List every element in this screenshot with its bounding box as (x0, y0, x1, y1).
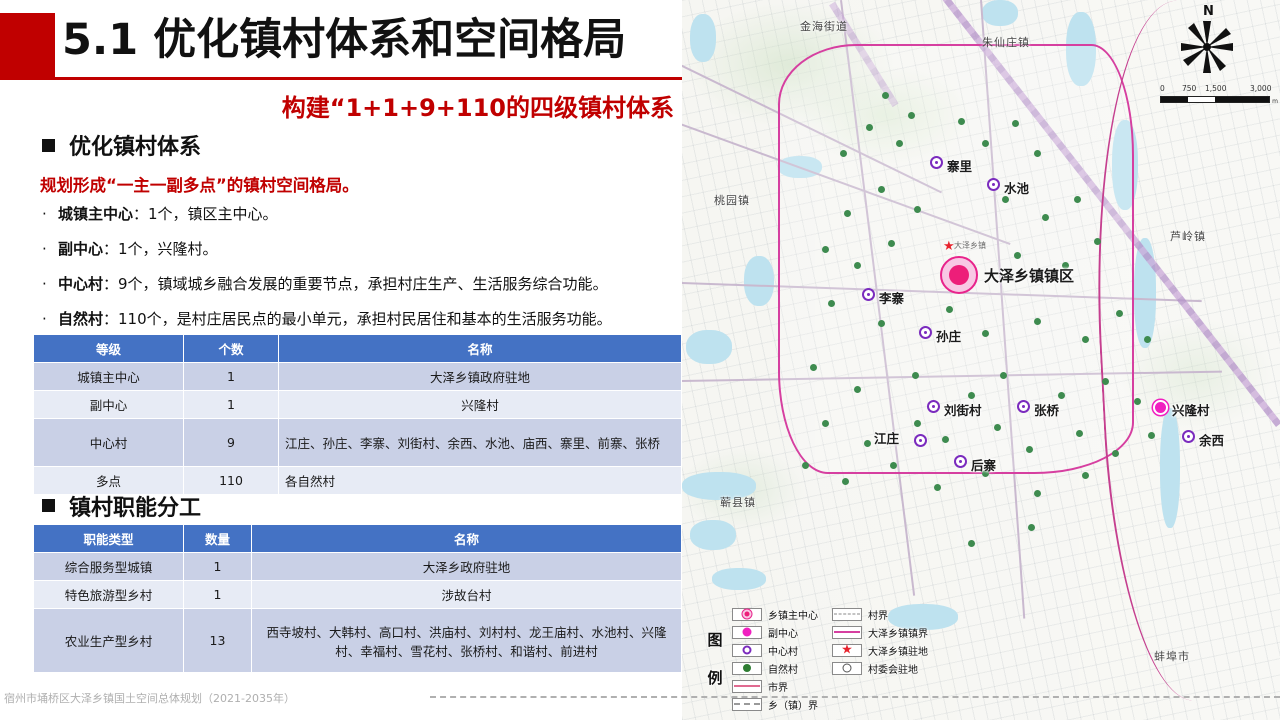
cell-quantity: 1 (184, 553, 252, 581)
bullet-dot-icon: · (42, 310, 58, 328)
natural-village-dot (968, 392, 975, 399)
center-village-marker[interactable] (927, 400, 940, 413)
legend-item: 自然村 (732, 661, 818, 676)
natural-village-dot (1076, 430, 1083, 437)
natural-village-dot (1094, 238, 1101, 245)
cell-function-type: 特色旅游型乡村 (34, 581, 184, 609)
cell-grade: 城镇主中心 (34, 363, 184, 391)
bullet-desc: ：1个，兴隆村。 (103, 240, 218, 258)
section1-lead-text: 规划形成“一主一副多点”的镇村空间格局。 (40, 172, 359, 196)
bullet-dot-icon: · (42, 205, 58, 223)
natural-village-dot (842, 478, 849, 485)
legend-title-char-1: 图 (707, 631, 722, 649)
water-body (982, 0, 1018, 26)
sub-center-dot-icon (732, 626, 762, 639)
column-header-quantity: 数量 (184, 525, 252, 553)
section-heading-village-system: 优化镇村体系 (42, 129, 201, 161)
center-village-dot-icon (732, 644, 762, 657)
legend-item: 副中心 (732, 625, 818, 640)
main-center-dot-icon (732, 608, 762, 621)
bullet-term: 中心村 (58, 275, 103, 293)
cell-count: 1 (184, 363, 279, 391)
natural-village-dot (942, 436, 949, 443)
daze-town-boundary-line-icon (832, 626, 862, 639)
center-village-label: 李寨 (879, 288, 904, 307)
natural-village-dot (914, 420, 921, 427)
legend-label: 大泽乡镇镇界 (868, 625, 928, 640)
cell-quantity: 13 (184, 609, 252, 673)
natural-village-dot (914, 206, 921, 213)
natural-village-dot (1112, 450, 1119, 457)
center-village-label: 江庄 (874, 428, 899, 447)
bullet-desc: ：110个，是村庄居民点的最小单元，承担村民居住和基本的生活服务功能。 (103, 310, 612, 328)
legend-label: 大泽乡镇驻地 (868, 643, 928, 658)
page-subtitle: 构建“1+1+9+110的四级镇村体系 (0, 88, 682, 123)
scale-tick: 1,500 (1205, 84, 1226, 93)
center-village-label: 后寨 (971, 455, 996, 474)
natural-village-dot (1116, 310, 1123, 317)
legend-item: 中心村 (732, 643, 818, 658)
town-label: 金海街道 (800, 18, 848, 34)
column-header-grade: 等级 (34, 335, 184, 363)
natural-village-dot (934, 484, 941, 491)
list-item: ·城镇主中心：1个，镇区主中心。 (42, 203, 682, 224)
legend-item: 乡（镇）界 (732, 697, 818, 712)
table-row: 城镇主中心 1 大泽乡镇政府驻地 (34, 363, 682, 391)
natural-village-dot-icon (732, 662, 762, 675)
natural-village-dot (1002, 196, 1009, 203)
bullet-square-icon (42, 499, 55, 512)
scale-bar-graphic (1160, 96, 1270, 103)
bullet-desc: ：9个，镇域城乡融合发展的重要节点，承担村庄生产、生活服务综合功能。 (103, 275, 608, 293)
natural-village-dot (844, 210, 851, 217)
bullet-term: 自然村 (58, 310, 103, 328)
natural-village-dot (912, 372, 919, 379)
cell-quantity: 1 (184, 581, 252, 609)
center-village-marker[interactable] (1017, 400, 1030, 413)
center-village-label: 余西 (1199, 430, 1224, 449)
table-row: 综合服务型城镇 1 大泽乡政府驻地 (34, 553, 682, 581)
section2-heading-label: 镇村职能分工 (69, 496, 201, 521)
legend-label: 村委会驻地 (868, 661, 918, 676)
list-item: ·副中心：1个，兴隆村。 (42, 238, 682, 259)
water-body (712, 568, 766, 590)
natural-village-dot (866, 124, 873, 131)
natural-village-dot (968, 540, 975, 547)
natural-village-dot (958, 118, 965, 125)
natural-village-dot (946, 306, 953, 313)
legend-item: 村界 (832, 607, 928, 622)
center-village-label: 寨里 (947, 156, 972, 175)
cell-name: 西寺坡村、大韩村、高口村、洪庙村、刘村村、龙王庙村、水池村、兴隆村、幸福村、雪花… (252, 609, 682, 673)
legend-label: 乡（镇）界 (768, 697, 818, 712)
legend-title-char-2: 例 (707, 669, 722, 687)
table-row: 特色旅游型乡村 1 涉故台村 (34, 581, 682, 609)
town-label: 朱仙庄镇 (982, 34, 1030, 50)
planning-map[interactable]: 大泽乡镇镇区 ★ 大泽乡镇 兴隆村 寨里 水池 李寨 孙庄 刘街村 张桥 余西 … (682, 0, 1280, 720)
main-center-label: 大泽乡镇镇区 (984, 265, 1074, 286)
column-header-name: 名称 (252, 525, 682, 553)
function-division-table: 职能类型 数量 名称 综合服务型城镇 1 大泽乡政府驻地 特色旅游型乡村 1 涉… (33, 524, 682, 673)
natural-village-dot (1074, 196, 1081, 203)
natural-village-dot (1058, 392, 1065, 399)
cell-name: 涉故台村 (252, 581, 682, 609)
table-row: 中心村 9 江庄、孙庄、李寨、刘街村、余西、水池、庙西、寨里、前寨、张桥 (34, 419, 682, 467)
natural-village-dot (1042, 214, 1049, 221)
bullet-term: 副中心 (58, 240, 103, 258)
cell-name: 江庄、孙庄、李寨、刘街村、余西、水池、庙西、寨里、前寨、张桥 (279, 419, 682, 467)
cell-name: 各自然村 (279, 467, 682, 495)
natural-village-dot (1144, 336, 1151, 343)
natural-village-dot (896, 140, 903, 147)
bullet-square-icon (42, 139, 55, 152)
legend-item: ★ 大泽乡镇驻地 (832, 643, 928, 658)
center-village-label: 孙庄 (936, 326, 961, 345)
table-row: 农业生产型乡村 13 西寺坡村、大韩村、高口村、洪庙村、刘村村、龙王庙村、水池村… (34, 609, 682, 673)
legend-label: 村界 (868, 607, 888, 622)
cell-grade: 副中心 (34, 391, 184, 419)
center-village-marker[interactable] (987, 178, 1000, 191)
natural-village-dot (890, 462, 897, 469)
main-center-marker[interactable] (940, 256, 978, 294)
town-label: 桃园镇 (714, 192, 750, 208)
water-body (690, 520, 736, 550)
legend-label: 市界 (768, 679, 788, 694)
center-village-marker[interactable] (862, 288, 875, 301)
bullet-term: 城镇主中心 (58, 205, 133, 223)
legend-item: 村委会驻地 (832, 661, 928, 676)
legend-label: 自然村 (768, 661, 798, 676)
natural-village-dot (810, 364, 817, 371)
city-boundary-line-icon (732, 680, 762, 693)
natural-village-dot (1034, 150, 1041, 157)
natural-village-dot (908, 112, 915, 119)
legend-label: 中心村 (768, 643, 798, 658)
natural-village-dot (1102, 378, 1109, 385)
legend-title: 图 例 (698, 621, 732, 697)
legend-label: 乡镇主中心 (768, 607, 818, 622)
scale-bar: 0 750 1,500 3,000 m (1160, 84, 1270, 103)
town-label: 蚌埠市 (1154, 648, 1190, 664)
cell-function-type: 综合服务型城镇 (34, 553, 184, 581)
footer-divider (430, 696, 1280, 698)
natural-village-dot (1026, 446, 1033, 453)
natural-village-dot (840, 150, 847, 157)
scale-bar-ticks: 0 750 1,500 3,000 (1160, 84, 1270, 96)
cell-name: 大泽乡政府驻地 (252, 553, 682, 581)
natural-village-dot (1082, 472, 1089, 479)
natural-village-dot (802, 462, 809, 469)
township-boundary-line-icon (732, 698, 762, 711)
natural-village-dot (822, 246, 829, 253)
center-village-marker[interactable] (954, 455, 967, 468)
cell-function-type: 农业生产型乡村 (34, 609, 184, 673)
natural-village-dot (888, 240, 895, 247)
natural-village-dot (994, 424, 1001, 431)
natural-village-dot (1134, 398, 1141, 405)
legend-item: 乡镇主中心 (732, 607, 818, 622)
content-panel: 5.1 优化镇村体系和空间格局 构建“1+1+9+110的四级镇村体系 优化镇村… (0, 0, 682, 720)
scale-tick: 750 (1182, 84, 1196, 93)
natural-village-dot (1014, 252, 1021, 259)
page-title: 5.1 优化镇村体系和空间格局 (62, 9, 626, 71)
natural-village-dot (828, 300, 835, 307)
list-item: ·自然村：110个，是村庄居民点的最小单元，承担村民居住和基本的生活服务功能。 (42, 308, 682, 329)
natural-village-dot (882, 92, 889, 99)
town-label: 蕲县镇 (720, 494, 756, 510)
column-header-name: 名称 (279, 335, 682, 363)
water-body (686, 330, 732, 364)
center-village-label: 张桥 (1034, 400, 1059, 419)
star-icon: ★ (943, 240, 955, 253)
scale-unit-label: m (1272, 98, 1278, 105)
scale-tick: 0 (1160, 84, 1165, 93)
sub-center-label: 兴隆村 (1172, 400, 1210, 419)
center-village-label: 水池 (1004, 178, 1029, 197)
bullet-desc: ：1个，镇区主中心。 (133, 205, 278, 223)
center-village-marker[interactable] (930, 156, 943, 169)
circle-icon (832, 662, 862, 675)
natural-village-dot (1082, 336, 1089, 343)
center-village-label: 刘街村 (944, 400, 982, 419)
column-header-count: 个数 (184, 335, 279, 363)
column-header-function-type: 职能类型 (34, 525, 184, 553)
village-system-table: 等级 个数 名称 城镇主中心 1 大泽乡镇政府驻地 副中心 1 兴隆村 中心村 … (33, 334, 682, 495)
table-header-row: 职能类型 数量 名称 (34, 525, 682, 553)
natural-village-dot (854, 262, 861, 269)
table-row: 副中心 1 兴隆村 (34, 391, 682, 419)
section-heading-function-division: 镇村职能分工 (42, 490, 201, 522)
bullet-dot-icon: · (42, 275, 58, 293)
town-label: 芦岭镇 (1170, 228, 1206, 244)
natural-village-dot (822, 420, 829, 427)
natural-village-dot (982, 330, 989, 337)
scale-tick: 3,000 (1250, 84, 1271, 93)
water-body (744, 256, 774, 306)
water-body (690, 14, 716, 62)
star-icon: ★ (832, 644, 862, 657)
bullet-dot-icon: · (42, 240, 58, 258)
title-block: 5.1 优化镇村体系和空间格局 (0, 6, 682, 86)
table-header-row: 等级 个数 名称 (34, 335, 682, 363)
natural-village-dot (1028, 524, 1035, 531)
title-underline (0, 77, 682, 80)
cell-name: 大泽乡镇政府驻地 (279, 363, 682, 391)
list-item: ·中心村：9个，镇域城乡融合发展的重要节点，承担村庄生产、生活服务综合功能。 (42, 273, 682, 294)
natural-village-dot (982, 140, 989, 147)
center-village-marker[interactable] (914, 434, 927, 447)
natural-village-dot (1148, 432, 1155, 439)
legend-item: 市界 (732, 679, 818, 694)
legend-label: 副中心 (768, 625, 798, 640)
north-arrow-icon: N (1176, 6, 1238, 76)
legend-item: 大泽乡镇镇界 (832, 625, 928, 640)
cell-grade: 中心村 (34, 419, 184, 467)
sub-center-marker[interactable] (1153, 400, 1168, 415)
natural-village-dot (1012, 120, 1019, 127)
village-boundary-line-icon (832, 608, 862, 621)
natural-village-dot (864, 440, 871, 447)
cell-count: 1 (184, 391, 279, 419)
natural-village-dot (1000, 372, 1007, 379)
cell-name: 兴隆村 (279, 391, 682, 419)
gov-seat-label: 大泽乡镇 (954, 240, 986, 251)
natural-village-dot (878, 320, 885, 327)
footer-text: 宿州市埇桥区大泽乡镇国土空间总体规划（2021-2035年） (4, 690, 680, 706)
title-accent-bar (0, 13, 55, 77)
natural-village-dot (878, 186, 885, 193)
natural-village-dot (1034, 490, 1041, 497)
natural-village-dot (1034, 318, 1041, 325)
cell-count: 9 (184, 419, 279, 467)
natural-village-dot (854, 386, 861, 393)
center-village-marker[interactable] (919, 326, 932, 339)
section1-heading-label: 优化镇村体系 (69, 135, 201, 160)
center-village-marker[interactable] (1182, 430, 1195, 443)
